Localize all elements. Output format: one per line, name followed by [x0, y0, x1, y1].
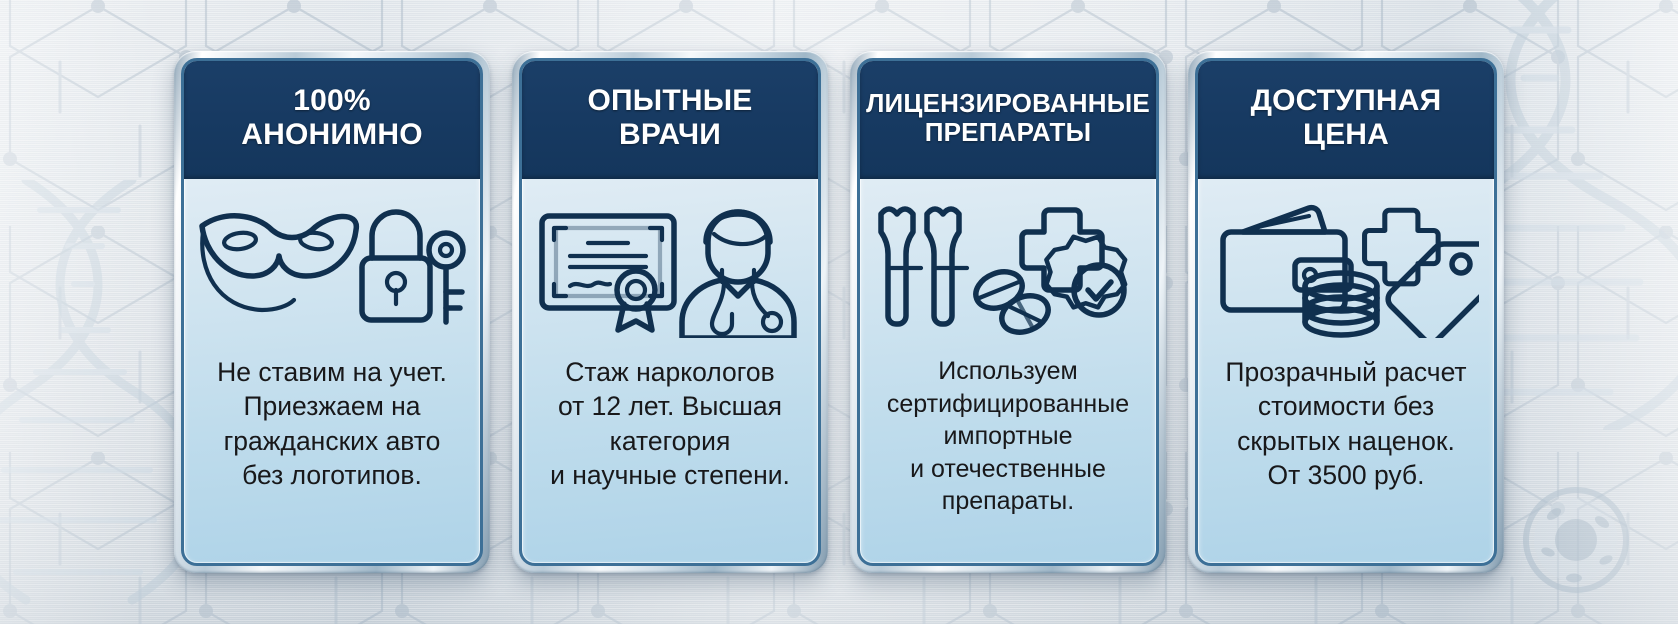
padlock-icon	[362, 212, 430, 320]
card-header-affordable-price: ДОСТУПНАЯ ЦЕНА	[1198, 61, 1494, 179]
card-header-anonymity: 100% АНОНИМНО	[184, 61, 480, 179]
feature-card-experienced-doctors[interactable]: ОПЫТНЫЕ ВРАЧИ	[512, 51, 828, 573]
coins-icon	[1305, 273, 1377, 335]
card-description: Используем сертифицированные импортные и…	[887, 355, 1129, 518]
card-inner: ЛИЦЕНЗИРОВАННЫЕ ПРЕПАРАТЫ	[857, 58, 1159, 566]
pills-icon	[970, 265, 1053, 338]
card-icon-group-experienced-doctors	[522, 179, 818, 351]
card-icon-group-affordable-price	[1198, 179, 1494, 351]
quality-badge-icon	[1046, 237, 1125, 315]
card-icon-group-licensed-drugs	[860, 179, 1156, 351]
card-icon-group-anonymity	[184, 179, 480, 351]
ampoule-icon	[881, 209, 921, 324]
card-description: Не ставим на учет. Приезжаем на гражданс…	[217, 355, 447, 493]
card-title: 100% АНОНИМНО	[241, 84, 422, 151]
feature-card-anonymity[interactable]: 100% АНОНИМНО	[174, 51, 490, 573]
card-body-licensed-drugs: Используем сертифицированные импортные и…	[860, 351, 1156, 563]
card-description: Стаж наркологов от 12 лет. Высшая катего…	[550, 355, 790, 493]
carnival-mask-icon	[202, 216, 356, 310]
medical-cross-icon	[1365, 210, 1439, 284]
feature-cards-row: 100% АНОНИМНО	[0, 0, 1678, 624]
ampoule-icon	[927, 209, 967, 324]
card-inner: 100% АНОНИМНО	[181, 58, 483, 566]
card-inner: ОПЫТНЫЕ ВРАЧИ	[519, 58, 821, 566]
card-title: ЛИЦЕНЗИРОВАННЫЕ ПРЕПАРАТЫ	[866, 89, 1150, 147]
price-tag-icon	[1388, 244, 1479, 338]
feature-card-affordable-price[interactable]: ДОСТУПНАЯ ЦЕНА	[1188, 51, 1504, 573]
card-body-experienced-doctors: Стаж наркологов от 12 лет. Высшая катего…	[522, 351, 818, 563]
card-title: ОПЫТНЫЕ ВРАЧИ	[587, 84, 752, 151]
card-body-anonymity: Не ставим на учет. Приезжаем на гражданс…	[184, 351, 480, 563]
card-header-licensed-drugs: ЛИЦЕНЗИРОВАННЫЕ ПРЕПАРАТЫ	[860, 61, 1156, 179]
card-inner: ДОСТУПНАЯ ЦЕНА	[1195, 58, 1497, 566]
feature-card-licensed-drugs[interactable]: ЛИЦЕНЗИРОВАННЫЕ ПРЕПАРАТЫ	[850, 51, 1166, 573]
key-icon	[429, 233, 463, 322]
certificate-icon	[542, 216, 674, 330]
doctor-icon	[682, 212, 794, 338]
card-title: ДОСТУПНАЯ ЦЕНА	[1251, 84, 1442, 151]
card-header-experienced-doctors: ОПЫТНЫЕ ВРАЧИ	[522, 61, 818, 179]
card-description: Прозрачный расчет стоимости без скрытых …	[1225, 355, 1466, 493]
card-body-affordable-price: Прозрачный расчет стоимости без скрытых …	[1198, 351, 1494, 563]
